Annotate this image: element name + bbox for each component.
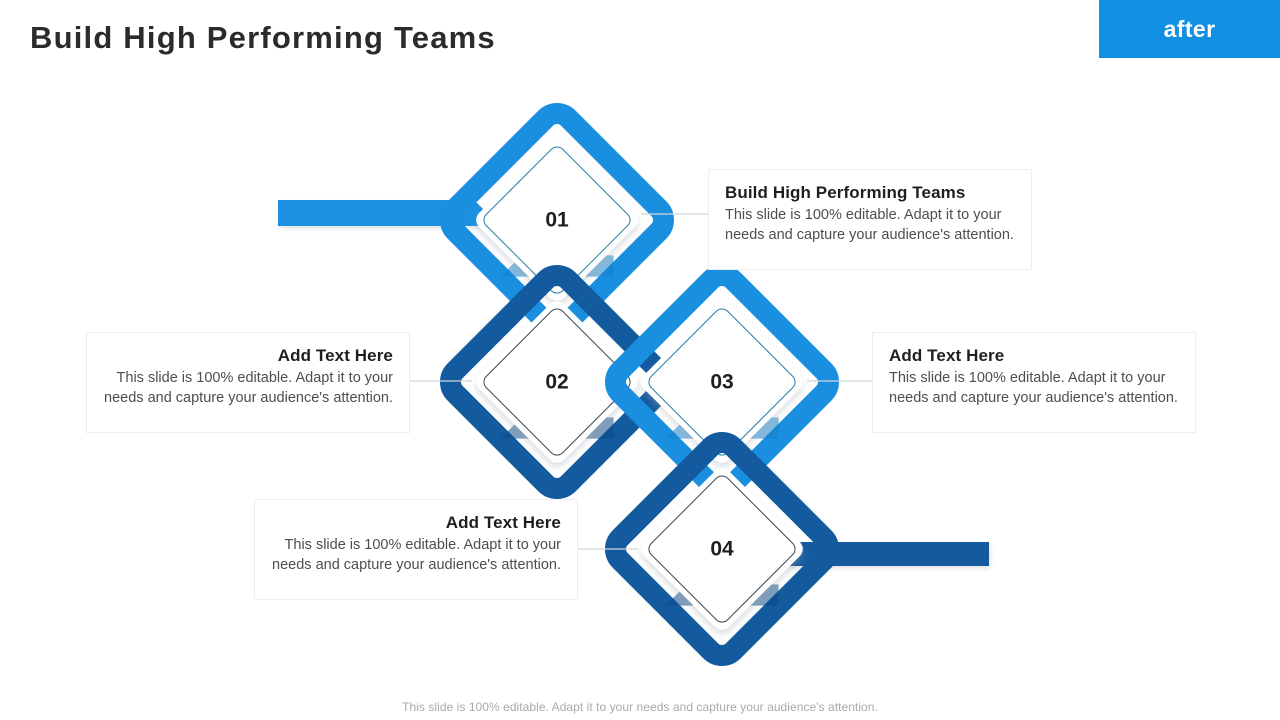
info-box-title-04: Add Text Here — [271, 512, 561, 533]
info-box-step-02[interactable]: Add Text Here This slide is 100% editabl… — [86, 332, 410, 433]
info-box-title-02: Add Text Here — [103, 345, 393, 366]
info-box-step-04[interactable]: Add Text Here This slide is 100% editabl… — [254, 499, 578, 600]
diamond-number-04: 04 — [710, 538, 734, 561]
diamond-number-01: 01 — [545, 209, 569, 232]
diamond-number-03: 03 — [710, 371, 733, 394]
diamond-step-01[interactable]: 01 — [444, 107, 670, 333]
info-box-step-03[interactable]: Add Text Here This slide is 100% editabl… — [872, 332, 1196, 433]
footer-note: This slide is 100% editable. Adapt it to… — [0, 700, 1280, 714]
diamond-number-02: 02 — [545, 371, 568, 394]
diamond-step-03[interactable]: 03 — [609, 269, 835, 495]
info-box-title-03: Add Text Here — [889, 345, 1179, 366]
info-box-body-04: This slide is 100% editable. Adapt it to… — [271, 536, 561, 576]
info-box-step-01[interactable]: Build High Performing Teams This slide i… — [708, 169, 1032, 270]
info-box-body-02: This slide is 100% editable. Adapt it to… — [103, 369, 393, 409]
slide-canvas: Build High Performing Teams after — [0, 0, 1280, 720]
diamond-step-02[interactable]: 02 — [444, 269, 670, 495]
info-box-title-01: Build High Performing Teams — [725, 182, 1015, 203]
diamond-step-04[interactable]: 04 — [609, 436, 835, 662]
info-box-body-01: This slide is 100% editable. Adapt it to… — [725, 206, 1015, 246]
info-box-body-03: This slide is 100% editable. Adapt it to… — [889, 369, 1179, 409]
